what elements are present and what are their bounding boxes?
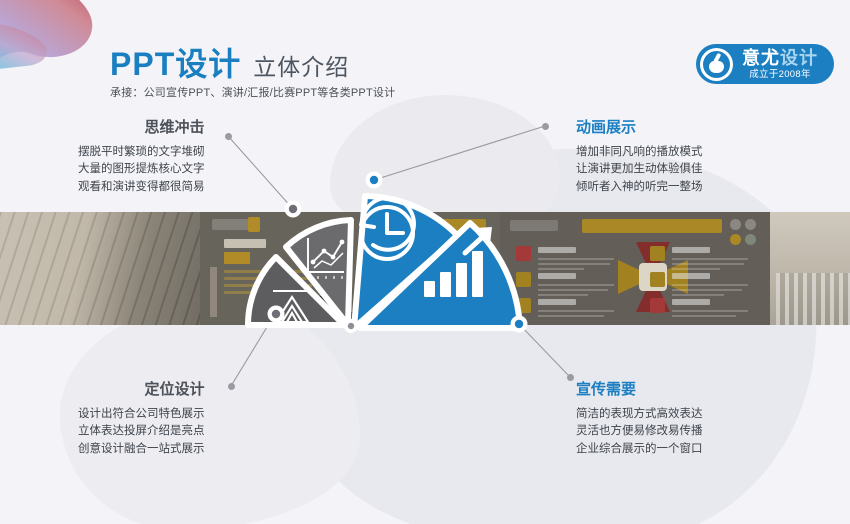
anchor-dot-positioning-design[interactable]: [268, 306, 285, 323]
block-line: 大量的图形提炼核心文字: [78, 161, 205, 179]
brand-logo[interactable]: 意尤设计 成立于2008年: [696, 44, 834, 84]
block-line: 倾听者入神的听完一整场: [576, 179, 703, 197]
title-description: 承接：公司宣传PPT、演讲/汇报/比赛PPT等各类PPT设计: [110, 84, 395, 100]
slide-canvas: PPT设计 立体介绍 承接：公司宣传PPT、演讲/汇报/比赛PPT等各类PPT设…: [0, 0, 850, 524]
block-line: 设计出符合公司特色展示: [78, 406, 205, 424]
block-line: 增加非同凡响的播放模式: [576, 144, 703, 162]
anchor-dot-animation-display[interactable]: [366, 172, 383, 189]
block-line: 企业综合展示的一个窗口: [576, 441, 703, 459]
text-block-animation-display: 动画展示 增加非同凡响的播放模式 让演讲更加生动体验俱佳 倾听者入神的听完一整场: [576, 120, 703, 197]
block-line: 让演讲更加生动体验俱佳: [576, 161, 703, 179]
endpoint-dot-promotion-needs: [567, 374, 574, 381]
slide-header: PPT设计 立体介绍 承接：公司宣传PPT、演讲/汇报/比赛PPT等各类PPT设…: [0, 0, 850, 112]
title-subtitle: 立体介绍: [253, 56, 349, 79]
block-heading: 定位设计: [78, 382, 205, 399]
mouse-circle-icon: [700, 48, 733, 81]
anchor-dot-thinking-impact[interactable]: [285, 201, 302, 218]
logo-name-light: 设计: [780, 48, 818, 68]
block-line: 观看和演讲变得都很简易: [78, 179, 205, 197]
logo-name-bold: 意尤: [742, 48, 780, 68]
block-line: 摆脱平时繁琐的文字堆砌: [78, 144, 205, 162]
endpoint-dot-thinking-impact: [225, 133, 232, 140]
block-heading: 思维冲击: [78, 120, 205, 137]
anchor-dot-promotion-needs[interactable]: [511, 316, 528, 333]
text-block-positioning-design: 定位设计 设计出符合公司特色展示 立体表达投屏介绍是亮点 创意设计融合一站式展示: [78, 382, 205, 459]
block-heading: 动画展示: [576, 120, 703, 137]
block-line: 灵活也方便易修改易传播: [576, 423, 703, 441]
block-line: 立体表达投屏介绍是亮点: [78, 423, 205, 441]
text-block-promotion-needs: 宣传需要 简洁的表现方式高效表达 灵活也方便易修改易传播 企业综合展示的一个窗口: [576, 382, 703, 459]
block-line: 简洁的表现方式高效表达: [576, 406, 703, 424]
block-line: 创意设计融合一站式展示: [78, 441, 205, 459]
endpoint-dot-positioning-design: [228, 383, 235, 390]
text-block-thinking-impact: 思维冲击 摆脱平时繁琐的文字堆砌 大量的图形提炼核心文字 观看和演讲变得都很简易: [78, 120, 205, 197]
block-heading: 宣传需要: [576, 382, 703, 399]
title-main: PPT设计: [110, 48, 241, 80]
endpoint-dot-animation-display: [542, 123, 549, 130]
logo-year: 成立于2008年: [742, 70, 818, 80]
logo-text: 意尤设计 成立于2008年: [742, 49, 818, 80]
logo-name: 意尤设计: [742, 49, 818, 67]
page-title: PPT设计 立体介绍: [110, 48, 349, 80]
